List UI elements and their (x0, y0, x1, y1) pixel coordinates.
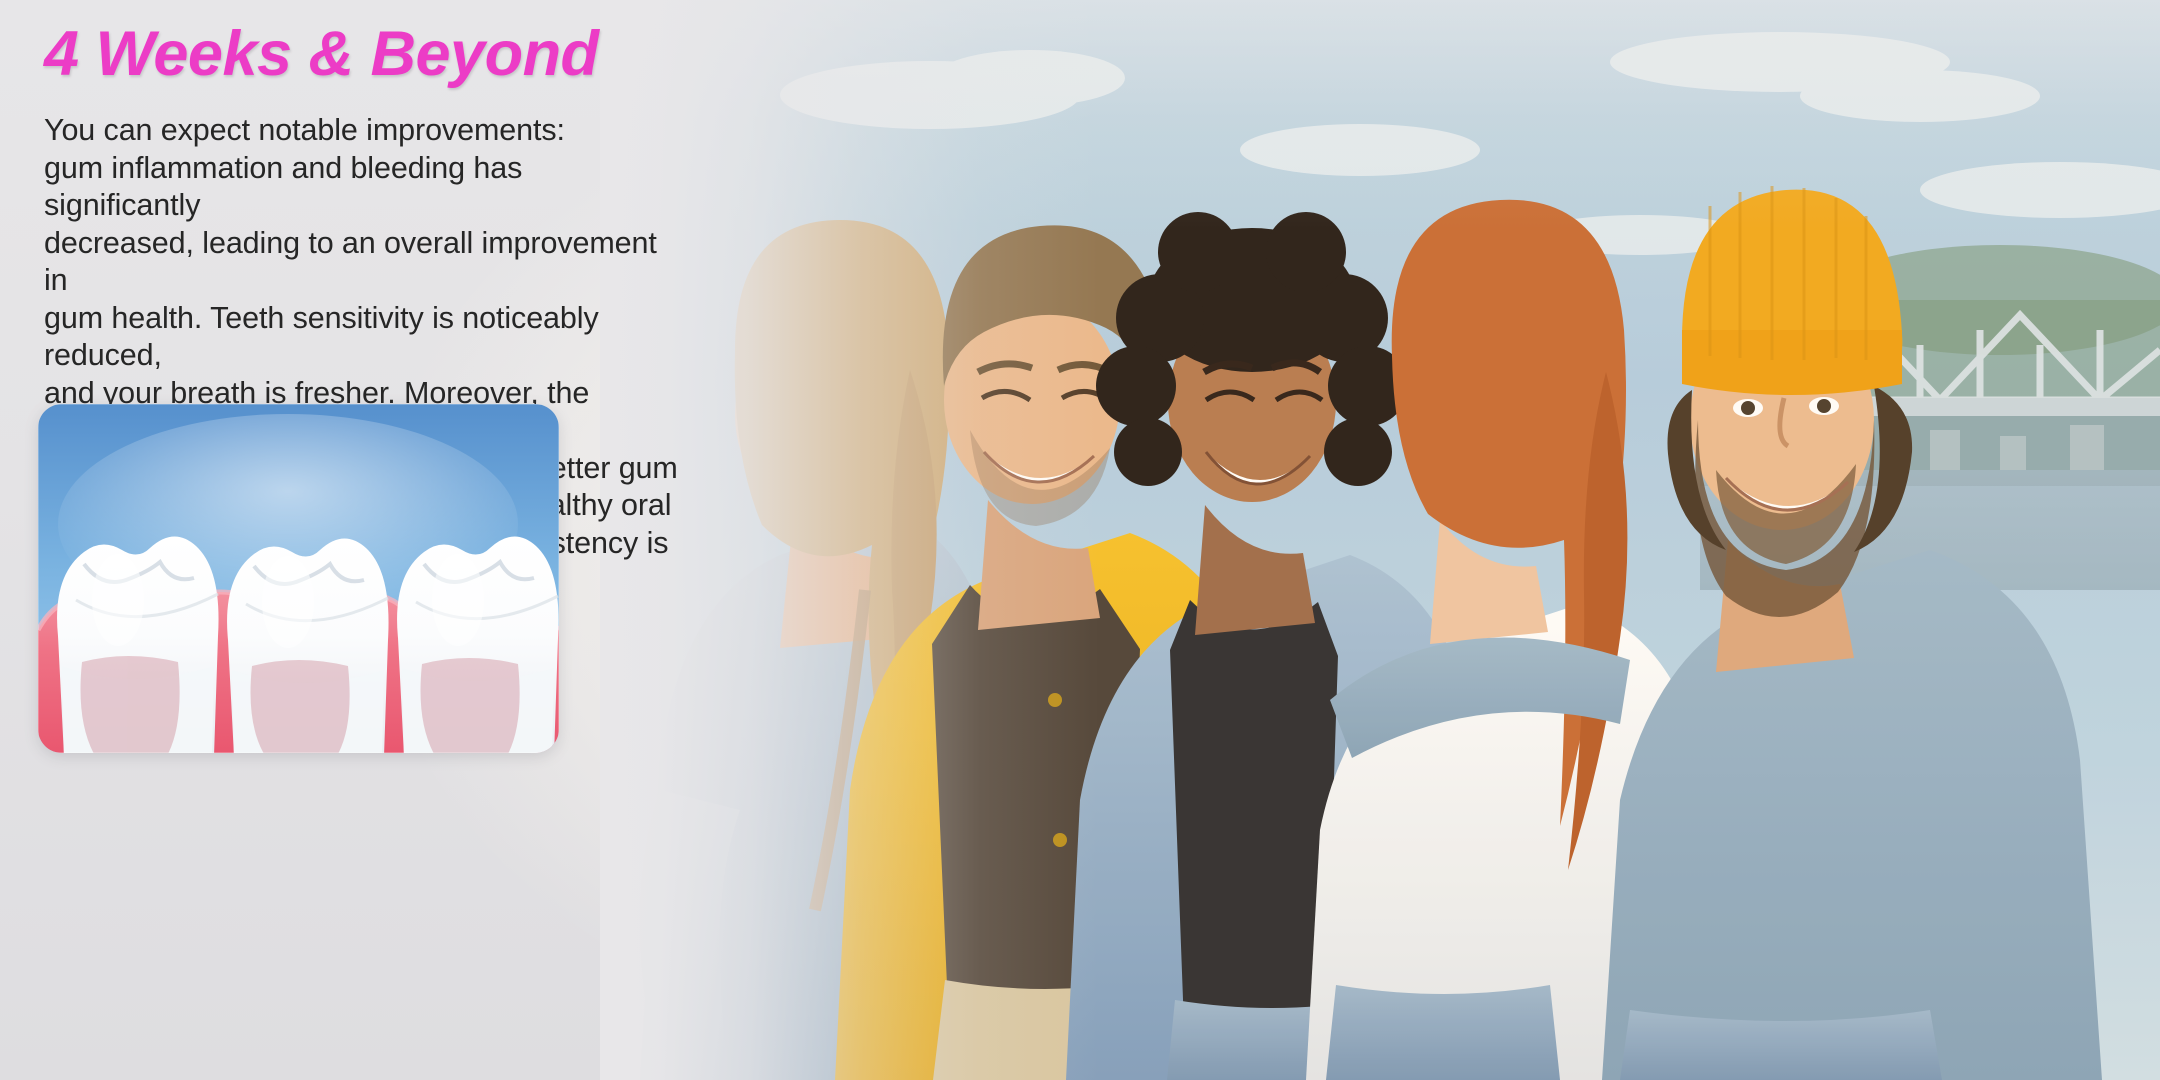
page-title: 4 Weeks & Beyond (44, 18, 599, 90)
text-column: 4 Weeks & Beyond You can expect notable … (0, 0, 700, 1080)
teeth-and-gums-icon (38, 404, 559, 753)
healthy-teeth-illustration-card (38, 404, 559, 753)
slide-canvas: 4 Weeks & Beyond You can expect notable … (0, 0, 2160, 1080)
friends-photo (600, 0, 2160, 1080)
friends-photo-illustration (600, 0, 2160, 1080)
